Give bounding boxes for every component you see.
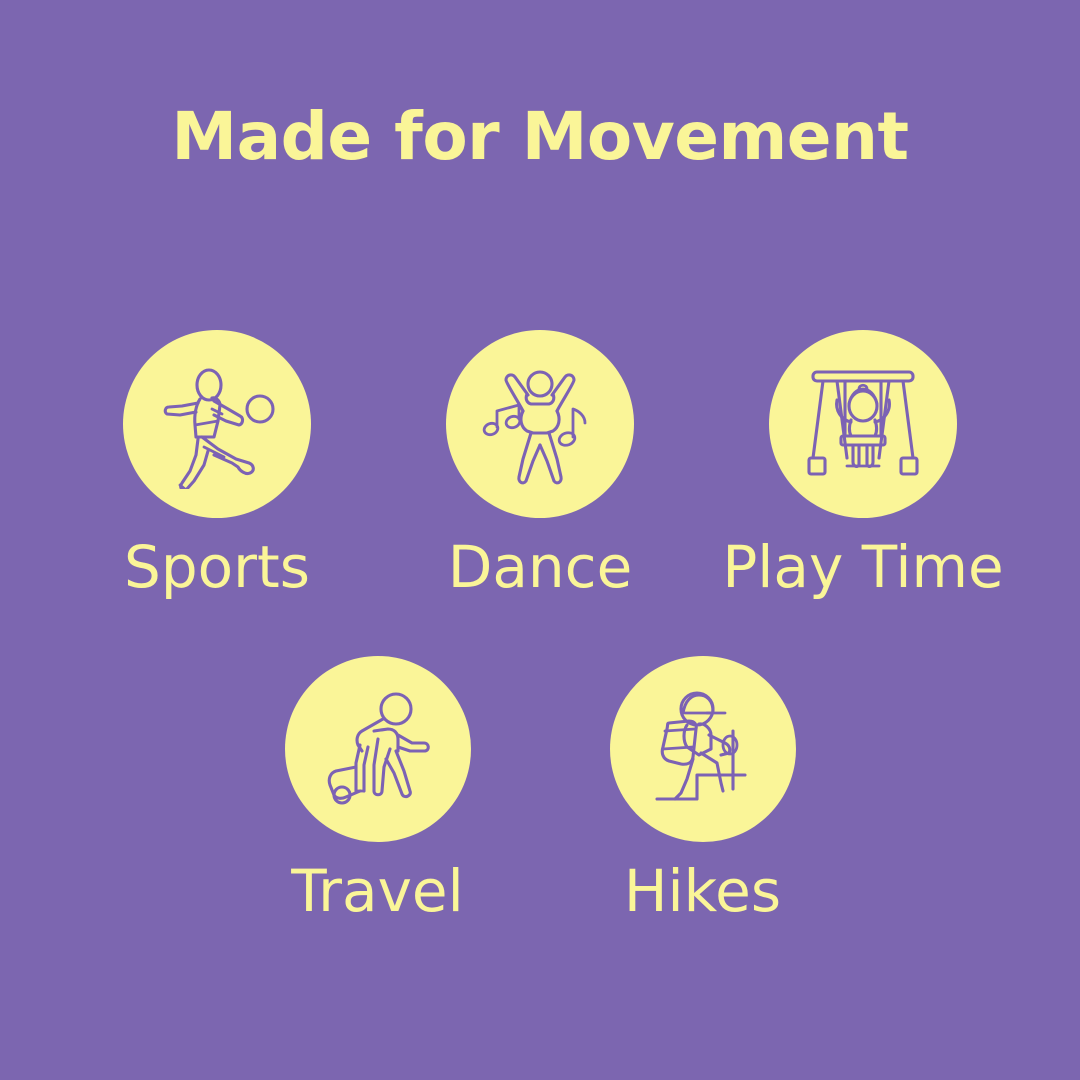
category-dance[interactable]: Dance: [379, 330, 702, 600]
category-sports[interactable]: Sports: [56, 330, 379, 600]
traveler-with-suitcase-icon: [316, 687, 440, 811]
category-label-hikes: Hikes: [624, 860, 781, 924]
child-on-swing-icon: [801, 362, 925, 486]
icon-circle-travel[interactable]: [285, 656, 471, 842]
icon-circle-play-time[interactable]: [769, 330, 957, 518]
page-title: Made for Movement: [0, 104, 1080, 170]
category-label-travel: Travel: [291, 860, 463, 924]
category-label-play-time: Play Time: [722, 536, 1003, 600]
icon-circle-hikes[interactable]: [610, 656, 796, 842]
category-hikes[interactable]: Hikes: [540, 656, 865, 924]
soccer-player-icon: [152, 359, 282, 489]
category-play-time[interactable]: Play Time: [702, 330, 1025, 600]
category-row-2: Travel: [0, 656, 1080, 924]
category-row-1: Sports: [0, 330, 1080, 600]
poster-canvas: Made for Movement: [0, 0, 1080, 1080]
hiker-with-backpack-icon: [641, 687, 765, 811]
dancing-person-music-notes-icon: [475, 359, 605, 489]
category-travel[interactable]: Travel: [215, 656, 540, 924]
category-label-dance: Dance: [448, 536, 633, 600]
icon-circle-dance[interactable]: [446, 330, 634, 518]
icon-circle-sports[interactable]: [123, 330, 311, 518]
category-label-sports: Sports: [124, 536, 310, 600]
